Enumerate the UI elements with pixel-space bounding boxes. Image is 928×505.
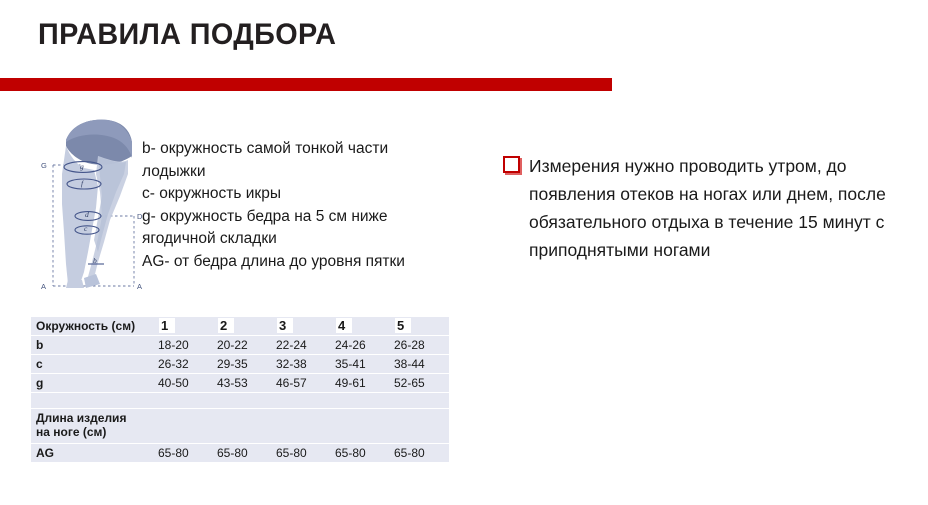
table-length-header-row: Длина изделия на ноге (см) xyxy=(31,409,449,443)
length-header-label: Длина изделия на ноге (см) xyxy=(31,409,153,443)
ring-label-g: g xyxy=(80,162,84,171)
cell-ag-3: 65-80 xyxy=(271,444,330,462)
legend-line-6: AG- от бедра длина до уровня пятки xyxy=(142,251,442,274)
cell-c-5: 38-44 xyxy=(389,355,449,373)
spacer-cell-1 xyxy=(153,393,212,408)
cell-g-1: 40-50 xyxy=(153,374,212,392)
page-title: ПРАВИЛА ПОДБОРА xyxy=(38,18,336,53)
spacer-cell-3 xyxy=(271,393,330,408)
cell-ag-2: 65-80 xyxy=(212,444,271,462)
length-header-line-1: Длина изделия xyxy=(36,411,126,425)
row-label-b: b xyxy=(31,336,153,354)
table-row: AG 65-80 65-80 65-80 65-80 65-80 xyxy=(31,444,449,462)
length-header-cell-3 xyxy=(271,409,330,443)
cell-g-5: 52-65 xyxy=(389,374,449,392)
left-foot-shape xyxy=(66,280,84,288)
table-row: c 26-32 29-35 32-38 35-41 38-44 xyxy=(31,355,449,373)
legend-line-5: ягодичной складки xyxy=(142,228,442,251)
length-header-cell-5 xyxy=(389,409,449,443)
leg-measurement-diagram: g f d c b G D A A xyxy=(36,112,148,294)
marker-a-left: A xyxy=(41,282,46,291)
cell-g-3: 46-57 xyxy=(271,374,330,392)
cell-b-5: 26-28 xyxy=(389,336,449,354)
table-header-size-5: 5 xyxy=(389,317,449,335)
legend-line-4: g- окружность бедра на 5 см ниже xyxy=(142,206,442,229)
size-col-4-value: 4 xyxy=(336,318,352,333)
cell-b-4: 24-26 xyxy=(330,336,389,354)
note-text: Измерения нужно проводить утром, до появ… xyxy=(529,152,903,264)
cell-b-2: 20-22 xyxy=(212,336,271,354)
length-header-line-2: на ноге (см) xyxy=(36,425,106,439)
table-header-label: Окружность (см) xyxy=(31,317,153,335)
size-col-5-value: 5 xyxy=(395,318,411,333)
cell-g-2: 43-53 xyxy=(212,374,271,392)
cell-c-1: 26-32 xyxy=(153,355,212,373)
measurement-note: Измерения нужно проводить утром, до появ… xyxy=(503,152,903,264)
right-foot-shape xyxy=(84,274,100,288)
cell-ag-4: 65-80 xyxy=(330,444,389,462)
measurement-legend: b- окружность самой тонкой части лодыжки… xyxy=(142,138,442,273)
cell-ag-5: 65-80 xyxy=(389,444,449,462)
size-col-1-value: 1 xyxy=(159,318,175,333)
legend-line-3: c- окружность икры xyxy=(142,183,442,206)
cell-c-4: 35-41 xyxy=(330,355,389,373)
table-header-size-2: 2 xyxy=(212,317,271,335)
cell-c-3: 32-38 xyxy=(271,355,330,373)
table-spacer-row xyxy=(31,393,449,408)
table-row: g 40-50 43-53 46-57 49-61 52-65 xyxy=(31,374,449,392)
row-label-c: c xyxy=(31,355,153,373)
cell-b-3: 22-24 xyxy=(271,336,330,354)
spacer-cell-5 xyxy=(389,393,449,408)
red-square-bullet-icon xyxy=(503,156,520,173)
length-header-cell-2 xyxy=(212,409,271,443)
cell-b-1: 18-20 xyxy=(153,336,212,354)
size-col-3-value: 3 xyxy=(277,318,293,333)
legend-line-1: b- окружность самой тонкой части xyxy=(142,138,442,161)
size-col-2-value: 2 xyxy=(218,318,234,333)
cell-g-4: 49-61 xyxy=(330,374,389,392)
row-label-g: g xyxy=(31,374,153,392)
table-header-row: Окружность (см) 1 2 3 4 5 xyxy=(31,317,449,335)
size-chart-table: Окружность (см) 1 2 3 4 5 b 18-20 20-22 … xyxy=(31,316,449,463)
cell-ag-1: 65-80 xyxy=(153,444,212,462)
marker-g: G xyxy=(41,161,47,170)
spacer-cell-4 xyxy=(330,393,389,408)
legend-line-2: лодыжки xyxy=(142,161,442,184)
spacer-cell-2 xyxy=(212,393,271,408)
table-header-size-3: 3 xyxy=(271,317,330,335)
marker-a-right: A xyxy=(137,282,142,291)
ring-label-b: b xyxy=(93,256,97,265)
table-row: b 18-20 20-22 22-24 24-26 26-28 xyxy=(31,336,449,354)
table-header-size-4: 4 xyxy=(330,317,389,335)
title-accent-rule xyxy=(0,78,612,91)
table-header-size-1: 1 xyxy=(153,317,212,335)
length-header-cell-4 xyxy=(330,409,389,443)
ring-label-d: d xyxy=(85,210,89,219)
row-label-ag: AG xyxy=(31,444,153,462)
cell-c-2: 29-35 xyxy=(212,355,271,373)
length-header-cell-1 xyxy=(153,409,212,443)
spacer-label xyxy=(31,393,153,408)
